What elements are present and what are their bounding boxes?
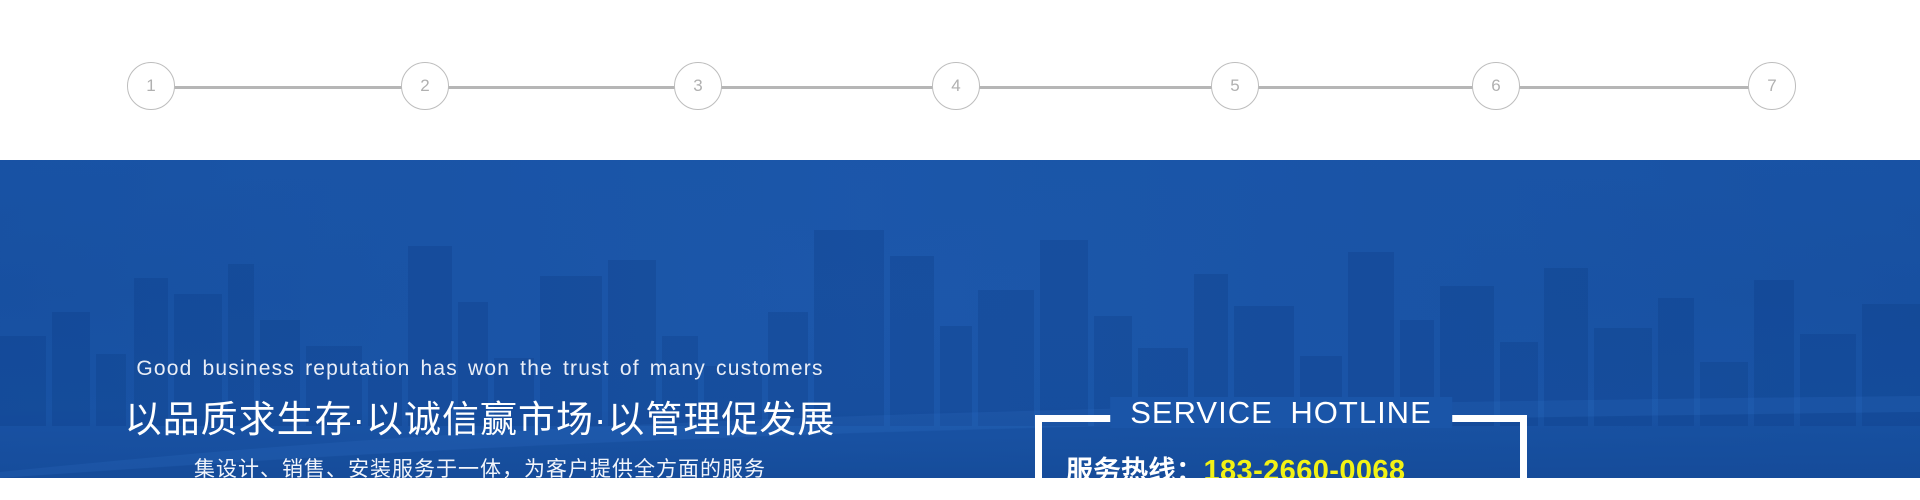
slogan-chinese-main: 以品质求生存·以诚信赢市场·以管理促发展 [0, 397, 960, 443]
slogan-english: Good business reputation has won the tru… [0, 356, 960, 381]
slogan-chinese-sub: 集设计、销售、安装服务于一体，为客户提供全方面的服务 [0, 457, 960, 478]
service-hotline-box: SERVICE HOTLINE 服务热线： 183-2660-0068 0551… [1035, 415, 1527, 478]
step-node-3[interactable]: 3 [674, 62, 722, 110]
hotline-title-wrapper: SERVICE HOTLINE [1110, 397, 1452, 428]
hotline-row-primary: 服务热线： 183-2660-0068 [1066, 452, 1502, 478]
hotline-rows: 服务热线： 183-2660-0068 0551-63749777 [1042, 452, 1520, 478]
step-node-6[interactable]: 6 [1472, 62, 1520, 110]
pagination-stepper: 1 2 3 4 5 6 7 [0, 0, 1920, 160]
step-label: 1 [146, 76, 155, 96]
promo-banner: Good business reputation has won the tru… [0, 160, 1920, 478]
hotline-label: 服务热线： [1066, 453, 1204, 478]
step-label: 6 [1491, 76, 1500, 96]
hotline-title: SERVICE HOTLINE [1130, 395, 1432, 430]
step-label: 3 [693, 76, 702, 96]
step-node-4[interactable]: 4 [932, 62, 980, 110]
step-label: 5 [1230, 76, 1239, 96]
bottom-white-strip [0, 478, 1920, 500]
step-label: 4 [951, 76, 960, 96]
hotline-number-primary[interactable]: 183-2660-0068 [1204, 452, 1406, 478]
step-node-7[interactable]: 7 [1748, 62, 1796, 110]
step-node-2[interactable]: 2 [401, 62, 449, 110]
step-label: 2 [420, 76, 429, 96]
step-node-1[interactable]: 1 [127, 62, 175, 110]
step-label: 7 [1767, 76, 1776, 96]
step-node-5[interactable]: 5 [1211, 62, 1259, 110]
slogan-block: Good business reputation has won the tru… [0, 356, 960, 478]
